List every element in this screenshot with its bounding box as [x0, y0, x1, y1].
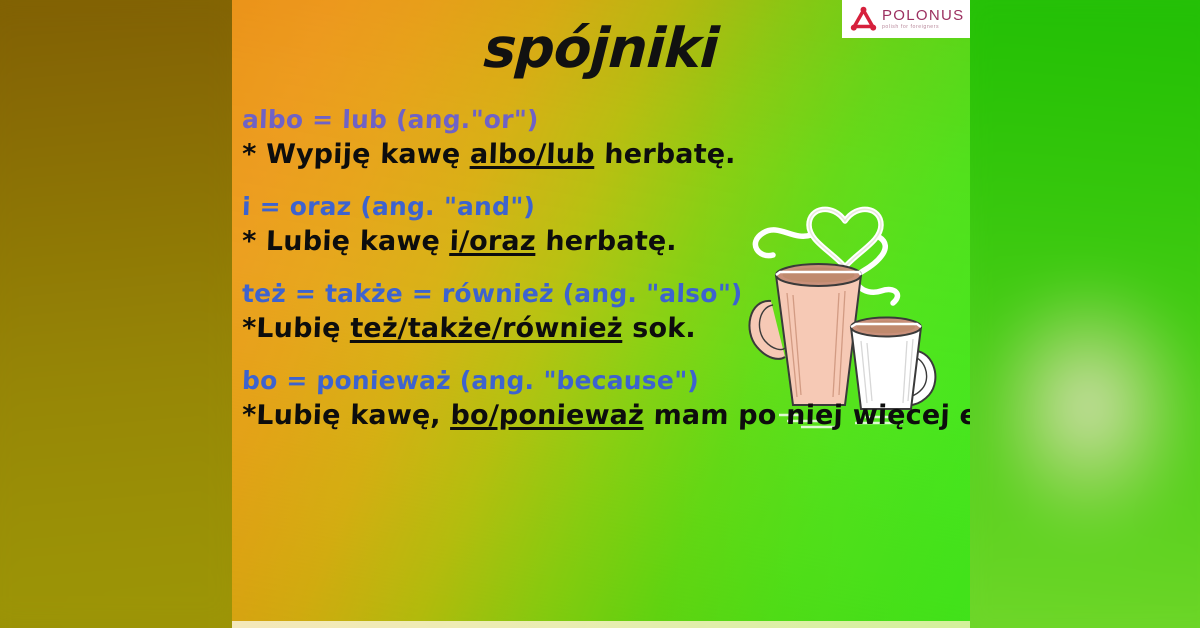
- polonus-logo-badge[interactable]: POLONUS polish for foreigners: [842, 0, 970, 38]
- conjunction-block: bo = ponieważ (ang. "because") *Lubię ka…: [242, 365, 970, 433]
- example-suffix: herbatę.: [535, 226, 677, 257]
- polonus-logo-text: POLONUS polish for foreigners: [882, 8, 964, 30]
- conjunction-example: *Lubię kawę, bo/ponieważ mam po niej wię…: [241, 398, 970, 433]
- conjunction-definition: bo = ponieważ (ang. "because"): [241, 365, 970, 397]
- example-underlined: i/oraz: [449, 226, 536, 257]
- example-suffix: mam po niej więcej energii.: [643, 400, 970, 431]
- example-prefix: * Wypiję kawę: [241, 139, 470, 170]
- example-prefix: * Lubię kawę: [241, 226, 450, 257]
- example-underlined: albo/lub: [470, 139, 596, 170]
- example-underlined: też/także/również: [350, 313, 624, 344]
- polonus-wordmark: POLONUS: [882, 8, 964, 23]
- conjunction-block: albo = lub (ang."or") * Wypiję kawę albo…: [242, 104, 970, 172]
- card-bottom-strip: [232, 621, 970, 628]
- example-prefix: *Lubię kawę,: [241, 400, 451, 431]
- example-suffix: sok.: [622, 313, 696, 344]
- example-underlined: bo/ponieważ: [450, 400, 645, 431]
- conjunction-example: *Lubię też/także/również sok.: [241, 311, 970, 346]
- conjunction-definition: i = oraz (ang. "and"): [241, 191, 970, 223]
- conjunction-definition: też = także = również (ang. "also"): [241, 278, 970, 310]
- screenshot-stage: POLONUS polish for foreigners spójniki: [0, 0, 1200, 628]
- blurred-backdrop-right: [930, 0, 1200, 628]
- conjunction-blocks: albo = lub (ang."or") * Wypiję kawę albo…: [242, 104, 970, 452]
- example-prefix: *Lubię: [241, 313, 350, 344]
- lesson-card: POLONUS polish for foreigners spójniki: [232, 0, 970, 628]
- conjunction-example: * Wypiję kawę albo/lub herbatę.: [241, 137, 970, 172]
- conjunction-example: * Lubię kawę i/oraz herbatę.: [241, 224, 970, 259]
- polonus-tagline: polish for foreigners: [882, 25, 964, 30]
- polonus-logo-icon: [850, 6, 877, 33]
- conjunction-block: i = oraz (ang. "and") * Lubię kawę i/ora…: [242, 191, 970, 259]
- conjunction-block: też = także = również (ang. "also") *Lub…: [242, 278, 970, 346]
- example-suffix: herbatę.: [594, 139, 736, 170]
- conjunction-definition: albo = lub (ang."or"): [241, 104, 970, 136]
